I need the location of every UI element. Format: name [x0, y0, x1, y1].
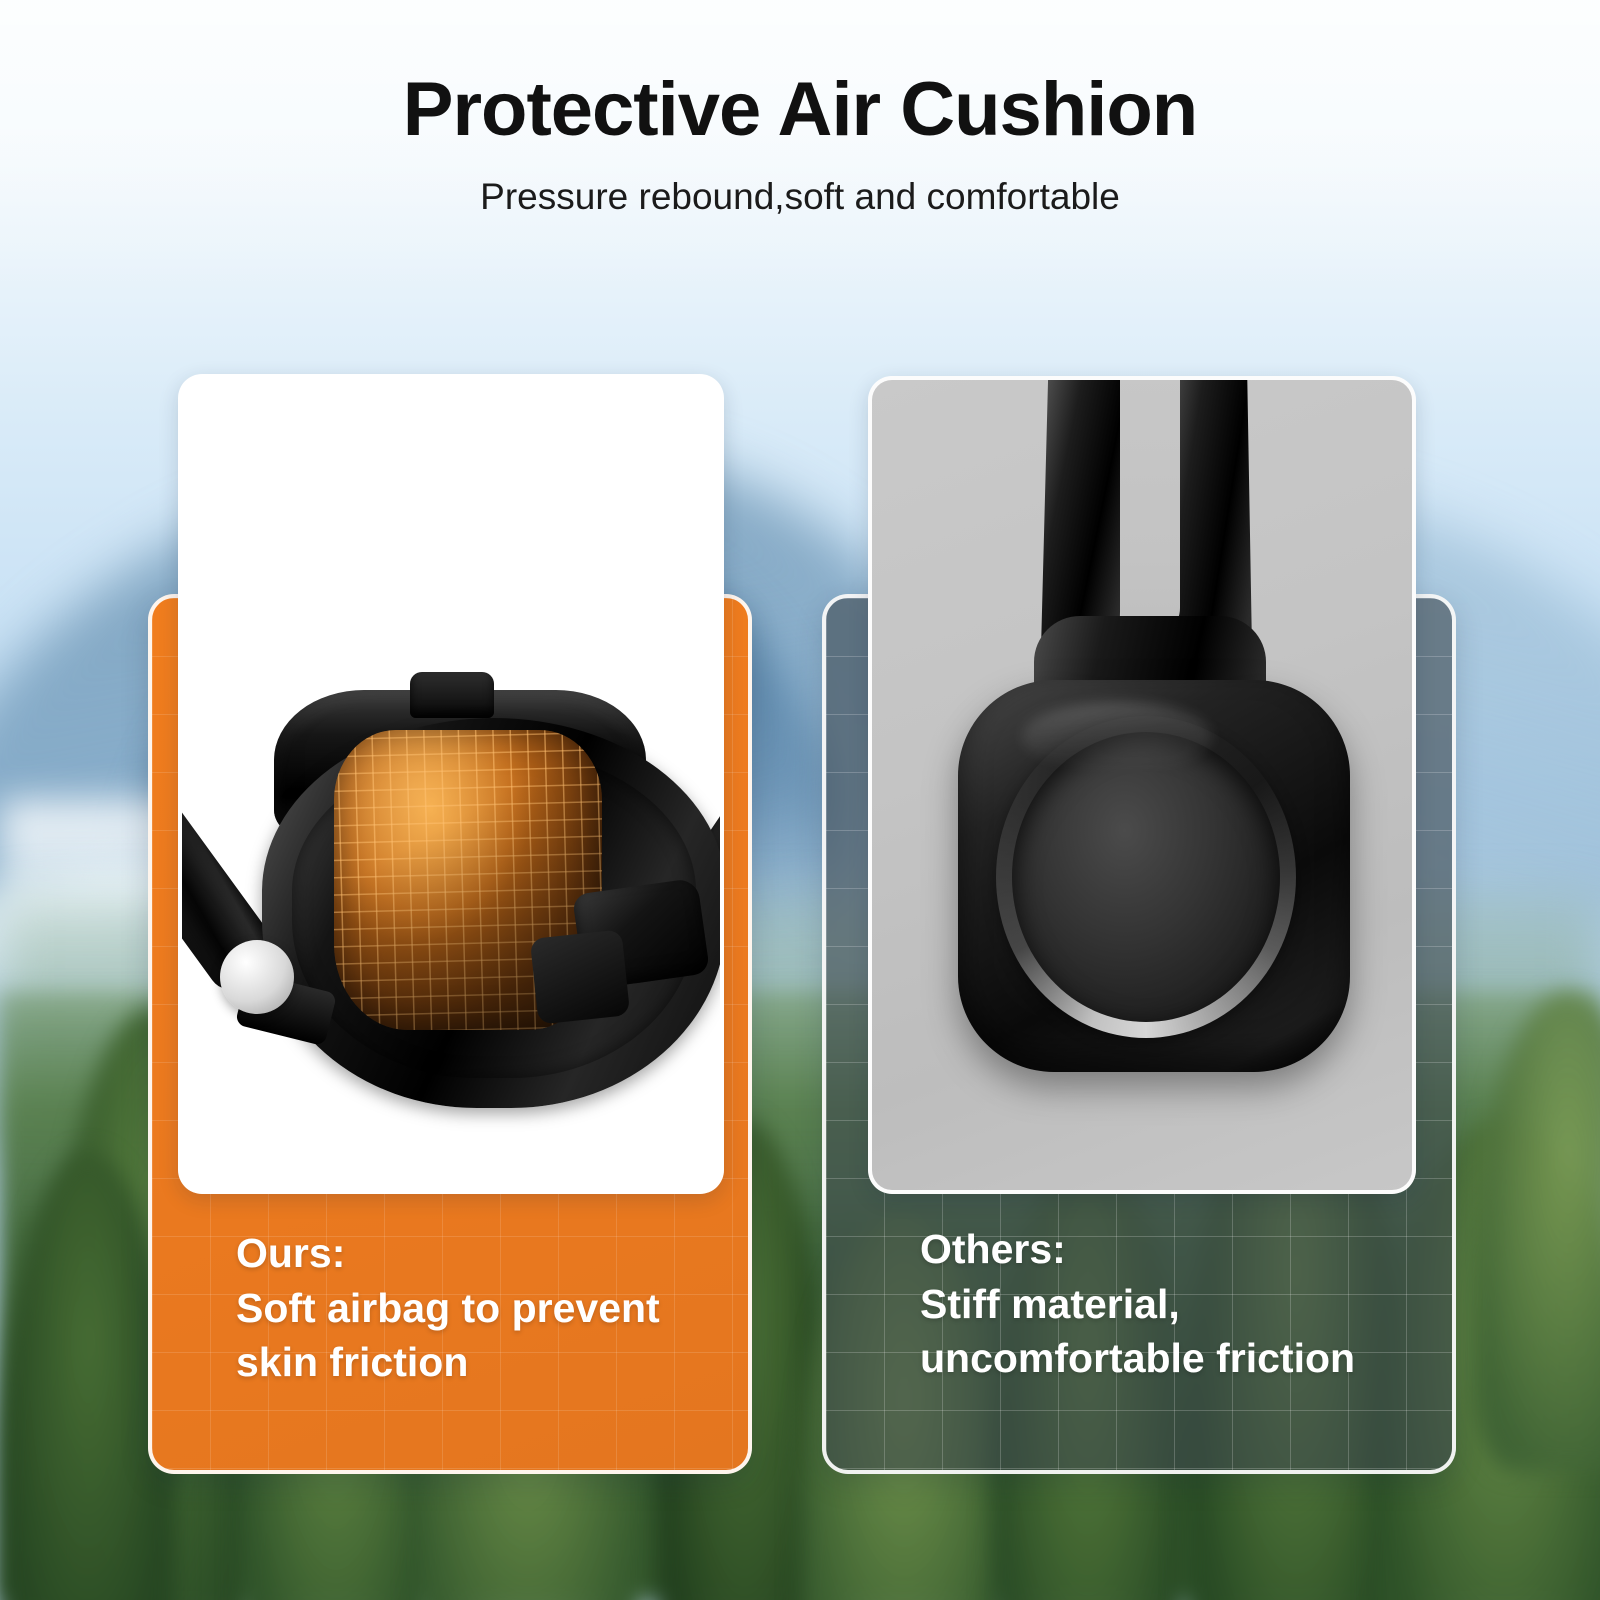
header-block: Protective Air Cushion Pressure rebound,…: [0, 70, 1600, 217]
earcup-gloss-highlight: [1022, 702, 1212, 772]
adjuster-knob: [220, 940, 294, 1014]
others-product-illustration: [872, 380, 1412, 1190]
others-caption: Others: Stiff material, uncomfortable fr…: [920, 1222, 1422, 1386]
ours-caption: Ours: Soft airbag to prevent skin fricti…: [236, 1226, 708, 1390]
headband-fork-gap: [1120, 376, 1180, 638]
ours-product-illustration: [182, 378, 720, 1190]
earcup-pad: [1012, 732, 1280, 1022]
ours-label: Ours:: [236, 1226, 708, 1281]
connector-block-inner: [530, 929, 630, 1024]
others-description: Stiff material, uncomfortable friction: [920, 1277, 1422, 1386]
infographic-canvas: Protective Air Cushion Pressure rebound,…: [0, 0, 1600, 1600]
page-subtitle: Pressure rebound,soft and comfortable: [0, 177, 1600, 218]
ours-product-photo: [178, 374, 724, 1194]
ours-description: Soft airbag to prevent skin friction: [236, 1281, 708, 1390]
neckband-hinge-nub: [410, 672, 494, 718]
page-title: Protective Air Cushion: [0, 70, 1600, 151]
others-product-photo: [868, 376, 1416, 1194]
others-label: Others:: [920, 1222, 1422, 1277]
